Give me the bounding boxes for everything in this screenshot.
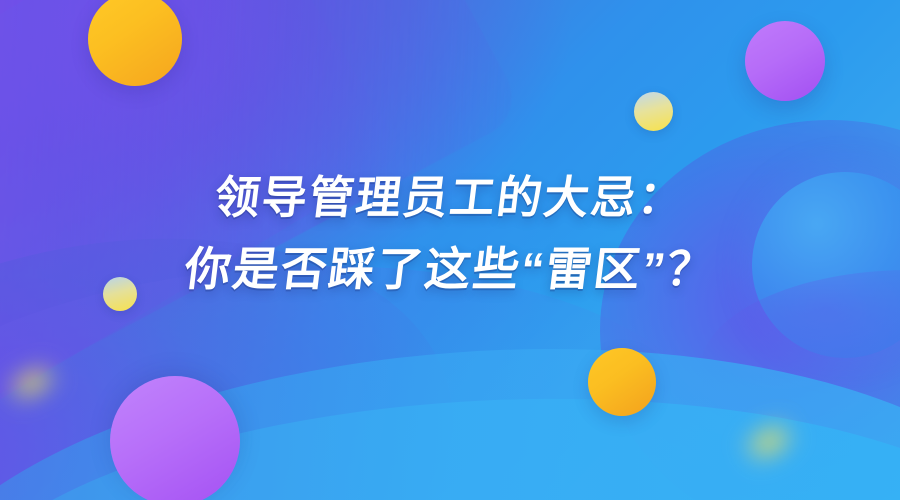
- violet-circle-bottom-left-icon: [110, 376, 240, 500]
- violet-circle-top-right-icon: [745, 21, 825, 101]
- wave-lower: [0, 309, 900, 500]
- headline-line-2: 你是否踩了这些“雷区”？: [0, 246, 900, 292]
- pale-yellow-circle-top-right-icon: [634, 92, 673, 131]
- headline-line-1: 领导管理员工的大忌：: [0, 175, 900, 220]
- yellow-glow-mid-left-icon: [2, 358, 62, 408]
- yellow-glow-bottom-right-icon: [737, 414, 801, 469]
- orange-circle-top-left-icon: [88, 0, 182, 86]
- promo-banner: 领导管理员工的大忌： 你是否踩了这些“雷区”？: [0, 0, 900, 500]
- arc-sliver-bottom-right: [700, 270, 900, 470]
- wave-lower-secondary: [0, 377, 900, 500]
- orange-circle-bottom-right-icon: [588, 348, 656, 416]
- headline-block: 领导管理员工的大忌： 你是否踩了这些“雷区”？: [0, 175, 900, 292]
